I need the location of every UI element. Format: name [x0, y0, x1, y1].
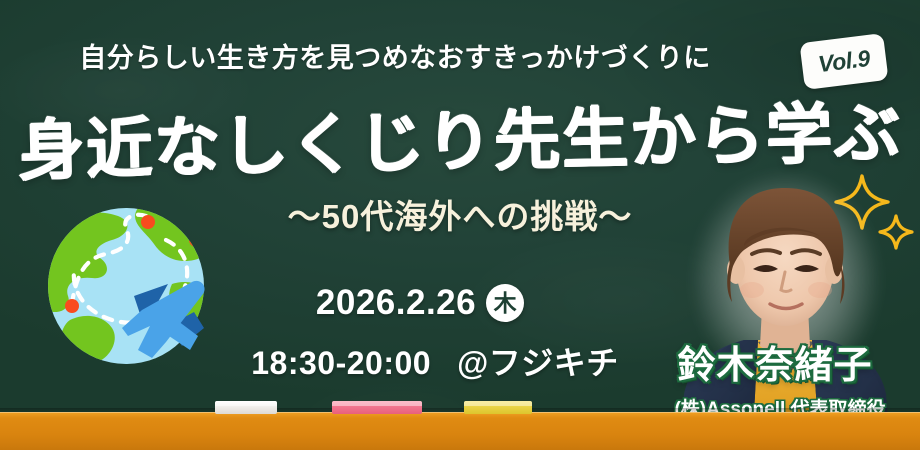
day-of-week-badge: 木	[486, 284, 524, 322]
event-poster: 自分らしい生き方を見つめなおすきっかけづくりに Vol.9 身近なしくじり先生か…	[0, 0, 920, 450]
event-time-row: 18:30-20:00@フジキチ	[235, 338, 635, 384]
volume-badge-label: Vol.9	[817, 45, 872, 78]
globe-airplane-icon	[42, 200, 222, 380]
white-chalk	[215, 401, 277, 414]
map-pin-icon	[141, 215, 155, 229]
chalk-tray	[0, 412, 920, 450]
catchcopy-text: 自分らしい生き方を見つめなおすきっかけづくりに	[0, 36, 790, 75]
event-time: 18:30-20:00	[251, 345, 431, 381]
pink-chalk	[332, 401, 422, 414]
event-date: 2026.2.26	[316, 283, 476, 323]
map-pin-icon	[189, 233, 203, 247]
event-date-row: 2026.2.26 木	[255, 283, 585, 323]
day-of-week-label: 木	[494, 292, 517, 315]
event-venue: @フジキチ	[457, 345, 619, 381]
yellow-chalk	[464, 401, 532, 414]
map-pin-icon	[65, 299, 79, 313]
speaker-name: 鈴木奈緒子	[630, 334, 920, 389]
